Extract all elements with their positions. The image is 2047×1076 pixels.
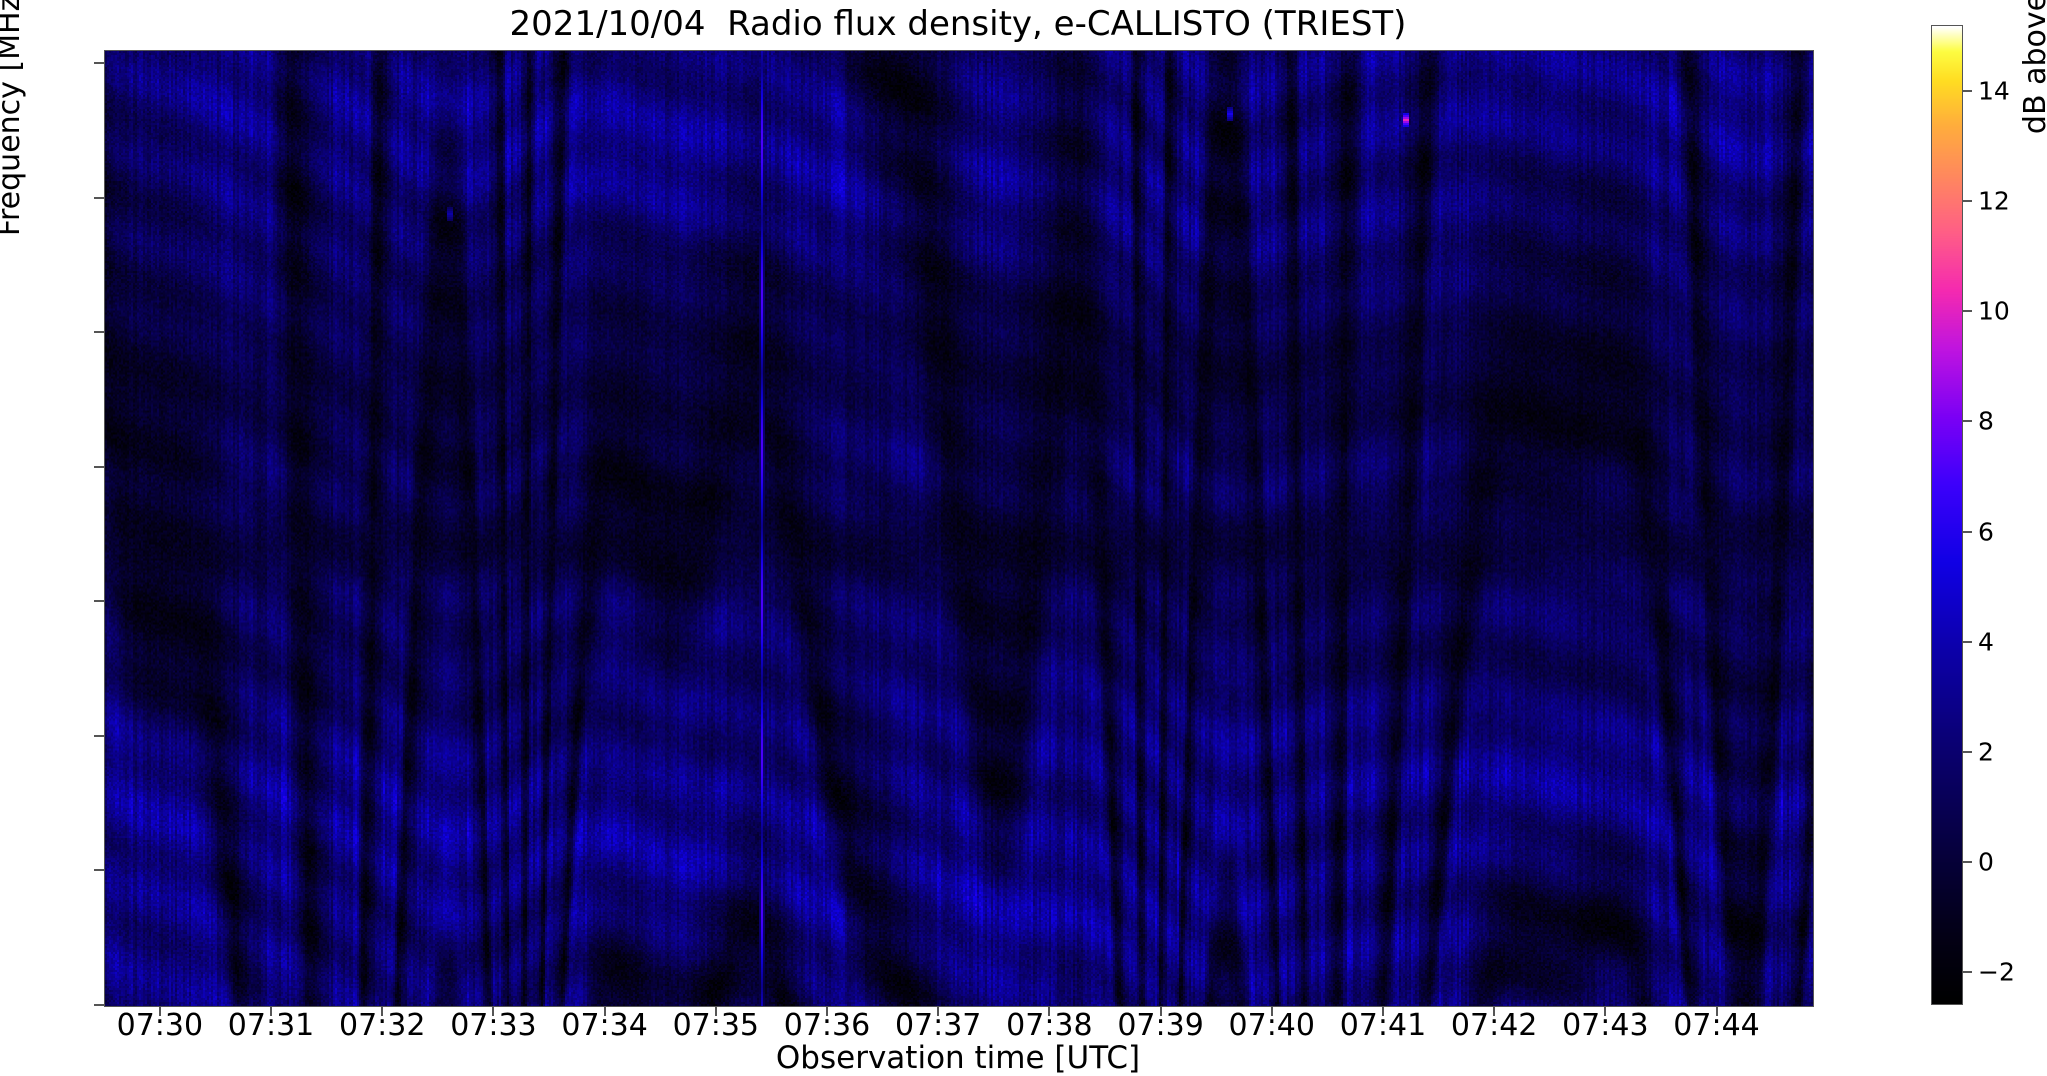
- y-tick-mark: [94, 869, 104, 871]
- x-tick-mark: [937, 1006, 939, 1016]
- y-tick-mark: [94, 735, 104, 737]
- y-axis-label: Frequency [MHz]: [0, 0, 27, 320]
- x-tick-mark: [1160, 1006, 1162, 1016]
- colorbar-label: dB above background: [2018, 0, 2047, 250]
- page-title: 2021/10/04 Radio flux density, e-CALLIST…: [104, 2, 1812, 46]
- colorbar-tick-mark: [1963, 531, 1972, 533]
- x-tick-mark: [270, 1006, 272, 1016]
- colorbar-tick-label: 0: [1978, 847, 1994, 876]
- colorbar-tick-mark: [1963, 200, 1972, 202]
- colorbar-tick-mark: [1963, 751, 1972, 753]
- y-tick-mark: [94, 62, 104, 64]
- colorbar-tick-label: 12: [1978, 187, 2010, 216]
- x-tick-mark: [381, 1006, 383, 1016]
- colorbar: [1931, 25, 1963, 1005]
- y-tick-mark: [94, 1004, 104, 1006]
- colorbar-tick-label: 8: [1978, 407, 1994, 436]
- colorbar-tick-label: 4: [1978, 627, 1994, 656]
- y-tick-mark: [94, 197, 104, 199]
- colorbar-tick-label: 6: [1978, 517, 1994, 546]
- colorbar-tick-label: 2: [1978, 737, 1994, 766]
- colorbar-tick-mark: [1963, 971, 1972, 973]
- figure-canvas: 2021/10/04 Radio flux density, e-CALLIST…: [0, 0, 2047, 1067]
- x-tick-mark: [1382, 1006, 1384, 1016]
- spectrogram-image: [105, 51, 1813, 1006]
- colorbar-tick-label: 10: [1978, 297, 2010, 326]
- x-axis-label: Observation time [UTC]: [104, 1040, 1812, 1076]
- colorbar-tick-mark: [1963, 90, 1972, 92]
- colorbar-tick-mark: [1963, 420, 1972, 422]
- x-tick-mark: [1048, 1006, 1050, 1016]
- y-tick-mark: [94, 331, 104, 333]
- x-tick-mark: [715, 1006, 717, 1016]
- x-tick-mark: [492, 1006, 494, 1016]
- colorbar-tick-mark: [1963, 641, 1972, 643]
- colorbar-tick-label: 14: [1978, 77, 2010, 106]
- x-tick-mark: [1716, 1006, 1718, 1016]
- x-tick-mark: [159, 1006, 161, 1016]
- x-tick-mark: [1271, 1006, 1273, 1016]
- colorbar-tick-label: −2: [1978, 957, 2015, 986]
- x-tick-mark: [1493, 1006, 1495, 1016]
- colorbar-tick-mark: [1963, 310, 1972, 312]
- x-tick-mark: [1604, 1006, 1606, 1016]
- spectrogram-axes: [104, 50, 1814, 1007]
- x-tick-mark: [604, 1006, 606, 1016]
- y-tick-mark: [94, 600, 104, 602]
- colorbar-gradient: [1932, 26, 1962, 1004]
- colorbar-tick-mark: [1963, 861, 1972, 863]
- x-tick-mark: [826, 1006, 828, 1016]
- y-tick-mark: [94, 466, 104, 468]
